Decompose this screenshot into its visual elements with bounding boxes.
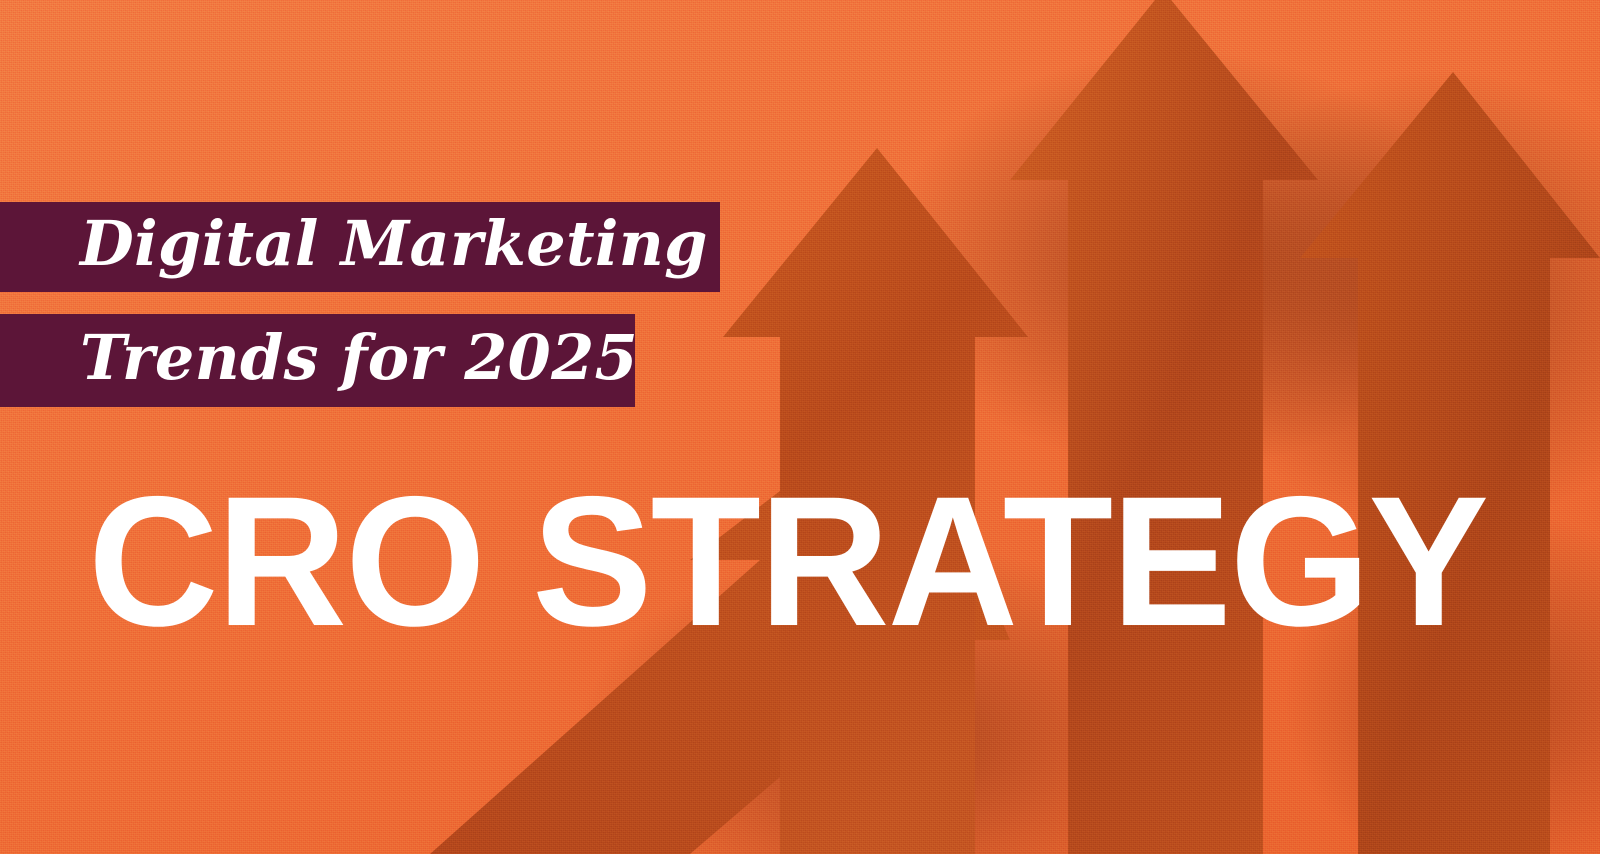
banner-canvas: Digital Marketing Trends for 2025 CRO ST… bbox=[0, 0, 1600, 854]
arrow-up-center-icon bbox=[1010, 0, 1318, 854]
eyebrow-bar-line-one: Digital Marketing bbox=[0, 202, 720, 292]
eyebrow-bar-line-two: Trends for 2025 bbox=[0, 314, 635, 407]
eyebrow-text-line-one: Digital Marketing bbox=[80, 213, 708, 275]
arrow-graphics-group bbox=[0, 0, 1600, 854]
eyebrow-text-line-two: Trends for 2025 bbox=[80, 327, 638, 389]
page-title: CRO STRATEGY bbox=[88, 470, 1487, 655]
